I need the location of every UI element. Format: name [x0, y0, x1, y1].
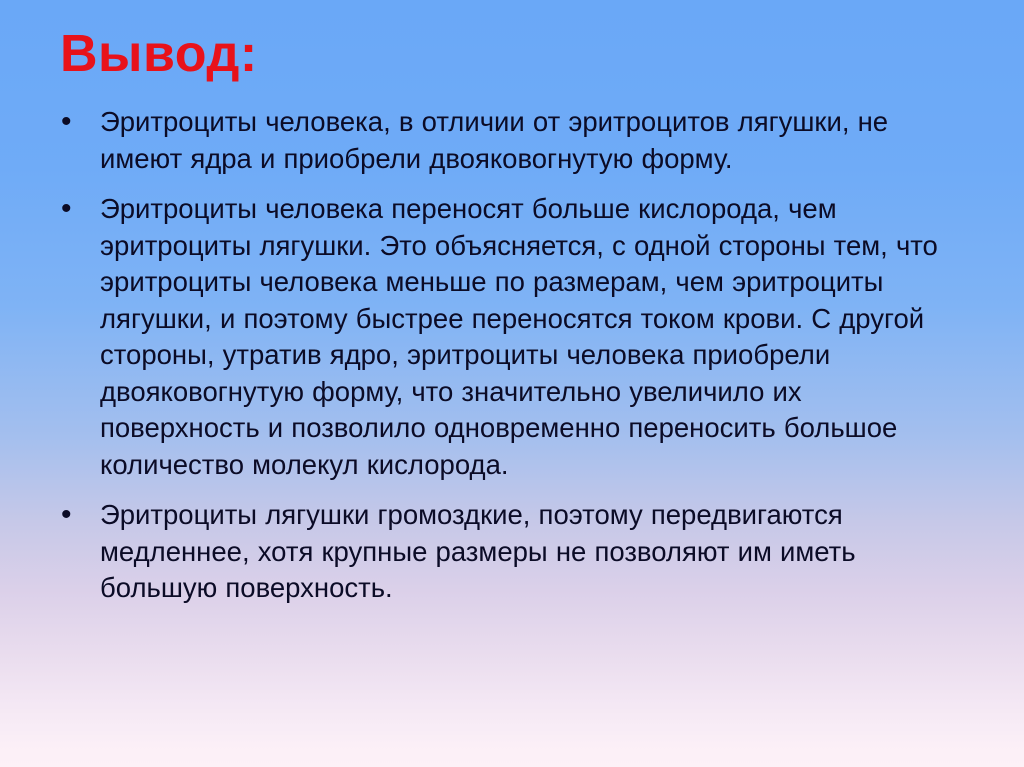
bullet-marker-icon: • [61, 497, 75, 533]
list-item: • Эритроциты лягушки громоздкие, поэтому… [0, 497, 1024, 607]
list-item: • Эритроциты человека, в отличии от эрит… [0, 104, 1024, 177]
list-item-text: Эритроциты человека переносят больше кис… [100, 191, 954, 483]
list-item-text: Эритроциты человека, в отличии от эритро… [100, 104, 954, 177]
list-item-text: Эритроциты лягушки громоздкие, поэтому п… [100, 497, 954, 607]
bullet-marker-icon: • [61, 104, 75, 140]
presentation-slide: Вывод: • Эритроциты человека, в отличии … [0, 0, 1024, 767]
list-item: • Эритроциты человека переносят больше к… [0, 191, 1024, 483]
page-title: Вывод: [60, 26, 258, 82]
bullet-marker-icon: • [61, 191, 75, 227]
conclusion-bullet-list: • Эритроциты человека, в отличии от эрит… [0, 104, 1024, 607]
